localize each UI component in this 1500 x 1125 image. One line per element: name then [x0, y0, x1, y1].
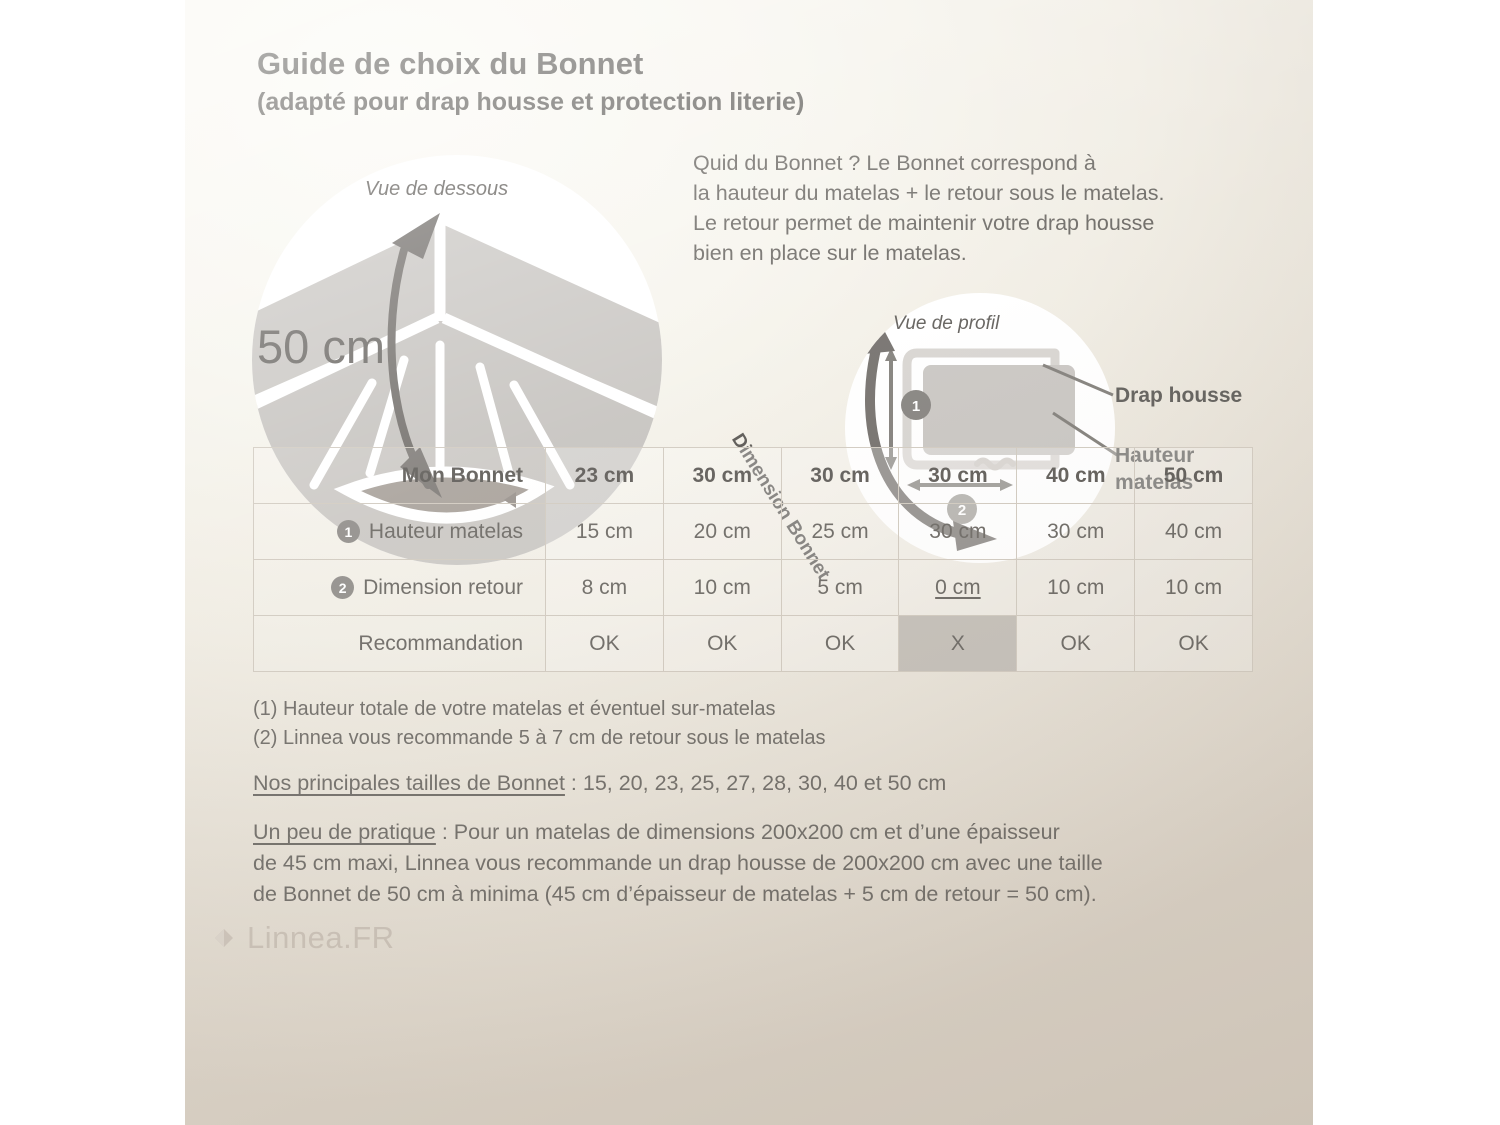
cell-retour-3: 0 cm	[899, 560, 1017, 616]
cell-mon-bonnet-3: 30 cm	[899, 448, 1017, 504]
diamond-icon	[211, 925, 237, 951]
cell-reco-5: OK	[1135, 616, 1253, 672]
cell-hauteur-5: 40 cm	[1135, 504, 1253, 560]
cell-hauteur-3: 30 cm	[899, 504, 1017, 560]
artboard: Guide de choix du Bonnet (adapté pour dr…	[185, 0, 1313, 1125]
cell-retour-3-value: 0 cm	[935, 576, 981, 599]
page-title: Guide de choix du Bonnet	[257, 46, 643, 82]
sizes-line: Nos principales tailles de Bonnet : 15, …	[253, 771, 946, 796]
cell-mon-bonnet-2: 30 cm	[781, 448, 899, 504]
table-row-recommandation: Recommandation OK OK OK X OK OK	[254, 616, 1253, 672]
table-row-hauteur-matelas: 1 Hauteur matelas 15 cm 20 cm 25 cm 30 c…	[254, 504, 1253, 560]
callout-drap-housse: Drap housse	[1115, 382, 1242, 409]
row-label-dimension-retour: 2 Dimension retour	[254, 560, 546, 616]
cell-hauteur-4: 30 cm	[1017, 504, 1135, 560]
page-subtitle: (adapté pour drap housse et protection l…	[257, 88, 804, 117]
practice-paragraph: Un peu de pratique : Pour un matelas de …	[253, 817, 1263, 910]
row-label-text: Dimension retour	[363, 576, 523, 600]
cell-reco-2: OK	[781, 616, 899, 672]
footnote-2: (2) Linnea vous recommande 5 à 7 cm de r…	[253, 724, 826, 753]
intro-line: Le retour permet de maintenir votre drap…	[693, 208, 1273, 238]
row-label-recommandation: Recommandation	[254, 616, 546, 672]
cell-retour-1: 10 cm	[663, 560, 781, 616]
cell-reco-3-not-recommended: X	[899, 616, 1017, 672]
cell-mon-bonnet-4: 40 cm	[1017, 448, 1135, 504]
cell-retour-0: 8 cm	[546, 560, 664, 616]
intro-paragraph: Quid du Bonnet ? Le Bonnet correspond à …	[693, 148, 1273, 268]
practice-line-1: : Pour un matelas de dimensions 200x200 …	[436, 820, 1060, 844]
cell-mon-bonnet-0: 23 cm	[546, 448, 664, 504]
cell-reco-4: OK	[1017, 616, 1135, 672]
badge-1-icon: 1	[337, 520, 360, 543]
intro-line: Quid du Bonnet ? Le Bonnet correspond à	[693, 148, 1273, 178]
cell-mon-bonnet-5: 50 cm	[1135, 448, 1253, 504]
practice-heading: Un peu de pratique	[253, 820, 436, 844]
sizes-value: : 15, 20, 23, 25, 27, 28, 30, 40 et 50 c…	[565, 771, 946, 795]
row-label-mon-bonnet: Mon Bonnet	[254, 448, 546, 504]
practice-line-3: de Bonnet de 50 cm à minima (45 cm d’épa…	[253, 879, 1263, 910]
footnote-1: (1) Hauteur totale de votre matelas et é…	[253, 695, 775, 724]
row-label-text: Hauteur matelas	[369, 520, 523, 544]
cell-hauteur-1: 20 cm	[663, 504, 781, 560]
table-row-mon-bonnet: Mon Bonnet 23 cm 30 cm 30 cm 30 cm 40 cm…	[254, 448, 1253, 504]
intro-line: la hauteur du matelas + le retour sous l…	[693, 178, 1273, 208]
measure-label-50cm: 50 cm	[257, 320, 385, 373]
cell-retour-2: 5 cm	[781, 560, 899, 616]
brand-name: Linnea.FR	[247, 920, 395, 956]
cell-retour-4: 10 cm	[1017, 560, 1135, 616]
bonnet-table: Mon Bonnet 23 cm 30 cm 30 cm 30 cm 40 cm…	[253, 447, 1253, 672]
practice-line-2: de 45 cm maxi, Linnea vous recommande un…	[253, 848, 1263, 879]
table-row-dimension-retour: 2 Dimension retour 8 cm 10 cm 5 cm 0 cm …	[254, 560, 1253, 616]
row-label-text: Recommandation	[358, 632, 523, 656]
cell-retour-5: 10 cm	[1135, 560, 1253, 616]
intro-line: bien en place sur le matelas.	[693, 238, 1273, 268]
cell-hauteur-2: 25 cm	[781, 504, 899, 560]
brand-logo[interactable]: Linnea.FR	[211, 920, 395, 956]
bottom-view-caption: Vue de dessous	[365, 178, 508, 201]
cell-reco-0: OK	[546, 616, 664, 672]
sizes-heading: Nos principales tailles de Bonnet	[253, 771, 565, 795]
badge-2-icon: 2	[331, 576, 354, 599]
row-label-hauteur-matelas: 1 Hauteur matelas	[254, 504, 546, 560]
infographic-page: Guide de choix du Bonnet (adapté pour dr…	[0, 0, 1500, 1125]
profile-view-caption: Vue de profil	[893, 313, 999, 335]
badge-1-label: 1	[912, 398, 920, 415]
row-label-text: Mon Bonnet	[402, 464, 523, 488]
cell-reco-1: OK	[663, 616, 781, 672]
cell-hauteur-0: 15 cm	[546, 504, 664, 560]
cell-mon-bonnet-1: 30 cm	[663, 448, 781, 504]
